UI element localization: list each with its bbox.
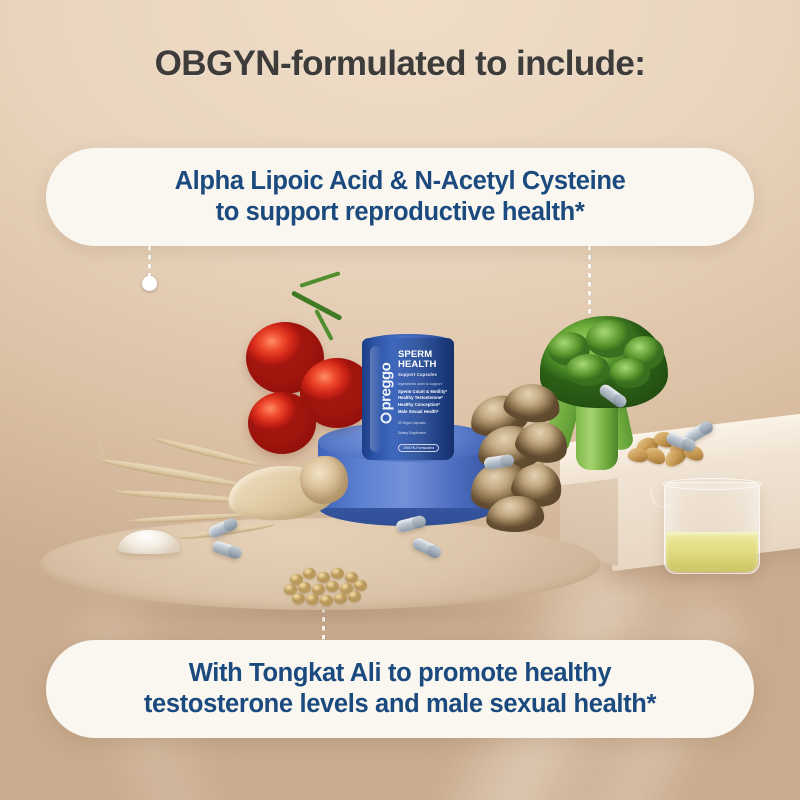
beaker-rim	[662, 478, 762, 490]
callout-top-line1: Alpha Lipoic Acid & N-Acetyl Cysteine	[175, 166, 626, 197]
callout-card-bottom: With Tongkat Ali to promote healthy test…	[46, 640, 754, 738]
brand-logo: preggo	[378, 358, 395, 424]
jar-benefit-list: Sperm Count & Motility* Healthy Testoste…	[398, 389, 448, 417]
product-jar: preggo SPERM HEALTH Support Capsules Ing…	[362, 338, 454, 460]
soybean	[348, 591, 361, 602]
product-marketing-graphic: OBGYN-formulated to include:	[0, 0, 800, 800]
callout-bottom-line1: With Tongkat Ali to promote healthy	[144, 658, 656, 689]
jar-intro-text: Ingredients used to support:	[398, 382, 448, 386]
jar-title-line2: HEALTH	[398, 360, 448, 370]
product-scene: preggo SPERM HEALTH Support Capsules Ing…	[0, 250, 800, 650]
soybean	[306, 594, 319, 605]
ginseng-root-head	[300, 456, 348, 504]
ginseng-root-tendril	[98, 456, 247, 490]
tomato-stem	[299, 271, 340, 288]
callout-bottom-line2: testosterone levels and male sexual heal…	[144, 689, 656, 720]
jar-benefit-item: Healthy Conception*	[398, 402, 448, 409]
brand-circle-icon	[381, 413, 392, 424]
beaker-oil	[666, 532, 758, 572]
ginseng-root-tendril	[152, 435, 260, 468]
page-headline: OBGYN-formulated to include:	[0, 44, 800, 84]
soybean	[298, 582, 311, 593]
callout-top-line2: to support reproductive health*	[175, 197, 626, 228]
soybean	[292, 593, 305, 604]
soybean	[320, 595, 333, 606]
soybean	[303, 568, 316, 579]
jar-obgyn-badge: OBGYN-Formulated	[398, 444, 439, 452]
tomato	[248, 392, 316, 454]
jar-supplement-line: Dietary Supplement	[398, 431, 448, 436]
soybean	[354, 580, 367, 591]
broccoli-floret	[566, 354, 610, 386]
soybean	[334, 593, 347, 604]
jar-subtitle: Support Capsules	[398, 372, 448, 377]
jar-label-copy: SPERM HEALTH Support Capsules Ingredient…	[398, 350, 448, 454]
brand-name: preggo	[378, 363, 395, 411]
jar-benefit-item: Male Sexual Health*	[398, 409, 448, 416]
callout-card-top: Alpha Lipoic Acid & N-Acetyl Cysteine to…	[46, 148, 754, 246]
soybean	[326, 581, 339, 592]
jar-benefit-item: Healthy Testosterone*	[398, 395, 448, 402]
soybean	[331, 568, 344, 579]
broccoli-floret	[610, 358, 650, 388]
jar-capsule-count: 30 Vegan Capsules	[398, 421, 448, 426]
jar-benefit-item: Sperm Count & Motility*	[398, 389, 448, 396]
